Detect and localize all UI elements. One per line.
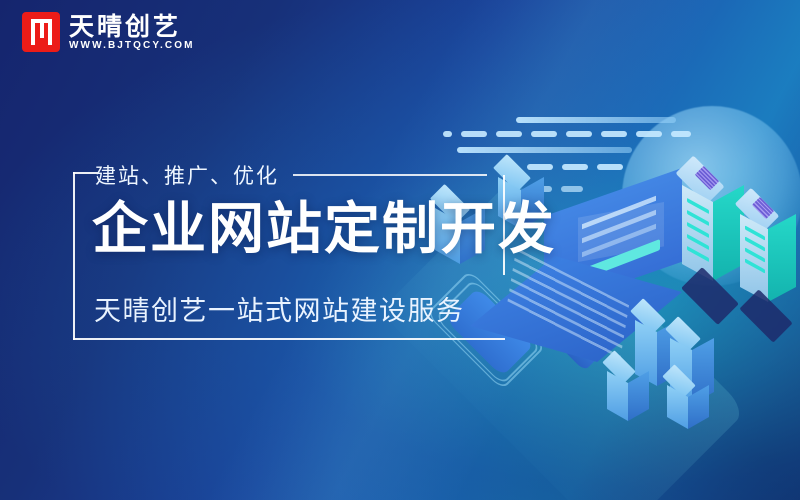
hero-tagline-rule xyxy=(293,174,487,176)
hero-tagline: 建站、推广、优化 xyxy=(95,160,495,190)
server-base-plate-small xyxy=(739,289,792,342)
hero-tagline-text: 建站、推广、优化 xyxy=(95,160,279,190)
logo-mark-icon xyxy=(22,12,60,52)
logo-text-block: 天晴创艺 WWW.BJTQCY.COM xyxy=(69,14,195,51)
frame-left-line xyxy=(73,172,75,340)
promo-banner: 天晴创艺 WWW.BJTQCY.COM 建站、推广、优化 企业网站定制开发 天晴… xyxy=(0,0,800,500)
hero-headline: 企业网站定制开发 xyxy=(92,200,556,260)
deco-dash-row-1 xyxy=(443,131,691,137)
logo-company-name: 天晴创艺 xyxy=(69,14,195,39)
hero-subtitle: 天晴创艺一站式网站建设服务 xyxy=(94,289,465,328)
deco-line-mid xyxy=(457,147,632,153)
logo-website-url: WWW.BJTQCY.COM xyxy=(69,41,195,51)
site-logo[interactable]: 天晴创艺 WWW.BJTQCY.COM xyxy=(22,12,195,52)
deco-line-top xyxy=(516,117,676,123)
